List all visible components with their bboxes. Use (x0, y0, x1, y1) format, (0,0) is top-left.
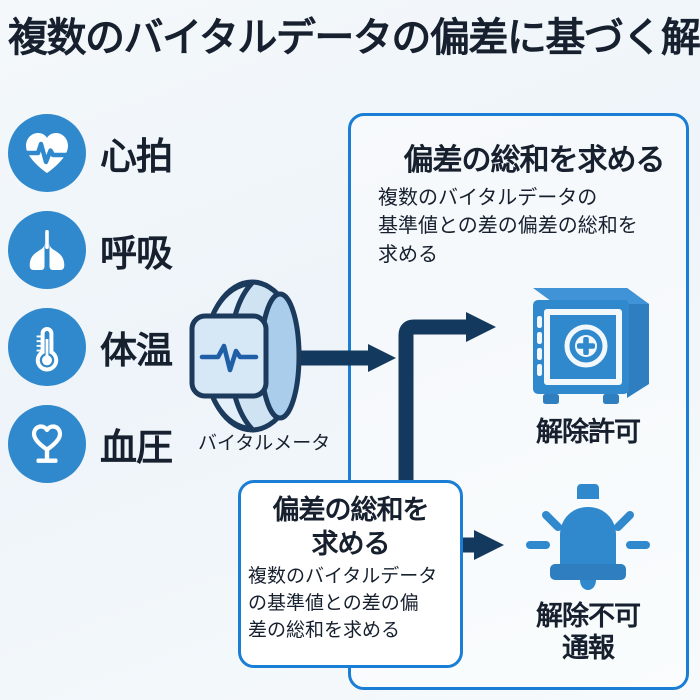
blood-pressure-icon (8, 405, 86, 483)
list-item-blood-pressure: 血圧 (0, 395, 210, 492)
list-item-heart-rate: 心拍 (0, 104, 210, 201)
outcome-label: 解除許可 (498, 416, 678, 448)
list-item-label: 血圧 (100, 417, 172, 471)
panel-title: 偏差の総和を求める (384, 135, 684, 179)
vitals-list: 心拍 呼吸 体温 (0, 104, 210, 492)
list-item-label: 心拍 (100, 126, 172, 180)
list-item-body-temperature: 体温 (0, 298, 210, 395)
subpanel-title: 偏差の総和を 求める (242, 494, 459, 562)
panel-body: 複数のバイタルデータの 基準値との差の偏差の総和を 求める (378, 184, 678, 269)
list-item-label: 体温 (100, 320, 172, 374)
vital-meter-watch-icon (186, 278, 322, 438)
heart-pulse-icon (8, 114, 86, 192)
meter-label: バイタルメータ (198, 428, 330, 455)
subpanel-body: 複数のバイタルデータ の基準値との差の偏 差の総和を求める (248, 564, 456, 645)
thermometer-icon (8, 308, 86, 386)
list-item-respiration: 呼吸 (0, 201, 210, 298)
lungs-icon (8, 211, 86, 289)
safe-vault-icon (523, 282, 653, 410)
list-item-label: 呼吸 (100, 223, 172, 277)
alarm-siren-icon (522, 482, 654, 594)
outcome-unlock-allowed: 解除許可 (498, 282, 678, 448)
outcome-label: 解除不可 通報 (498, 600, 678, 665)
outcome-unlock-denied: 解除不可 通報 (498, 482, 678, 665)
page-title: 複数のバイタルデータの偏差に基づく解制 (8, 16, 698, 60)
